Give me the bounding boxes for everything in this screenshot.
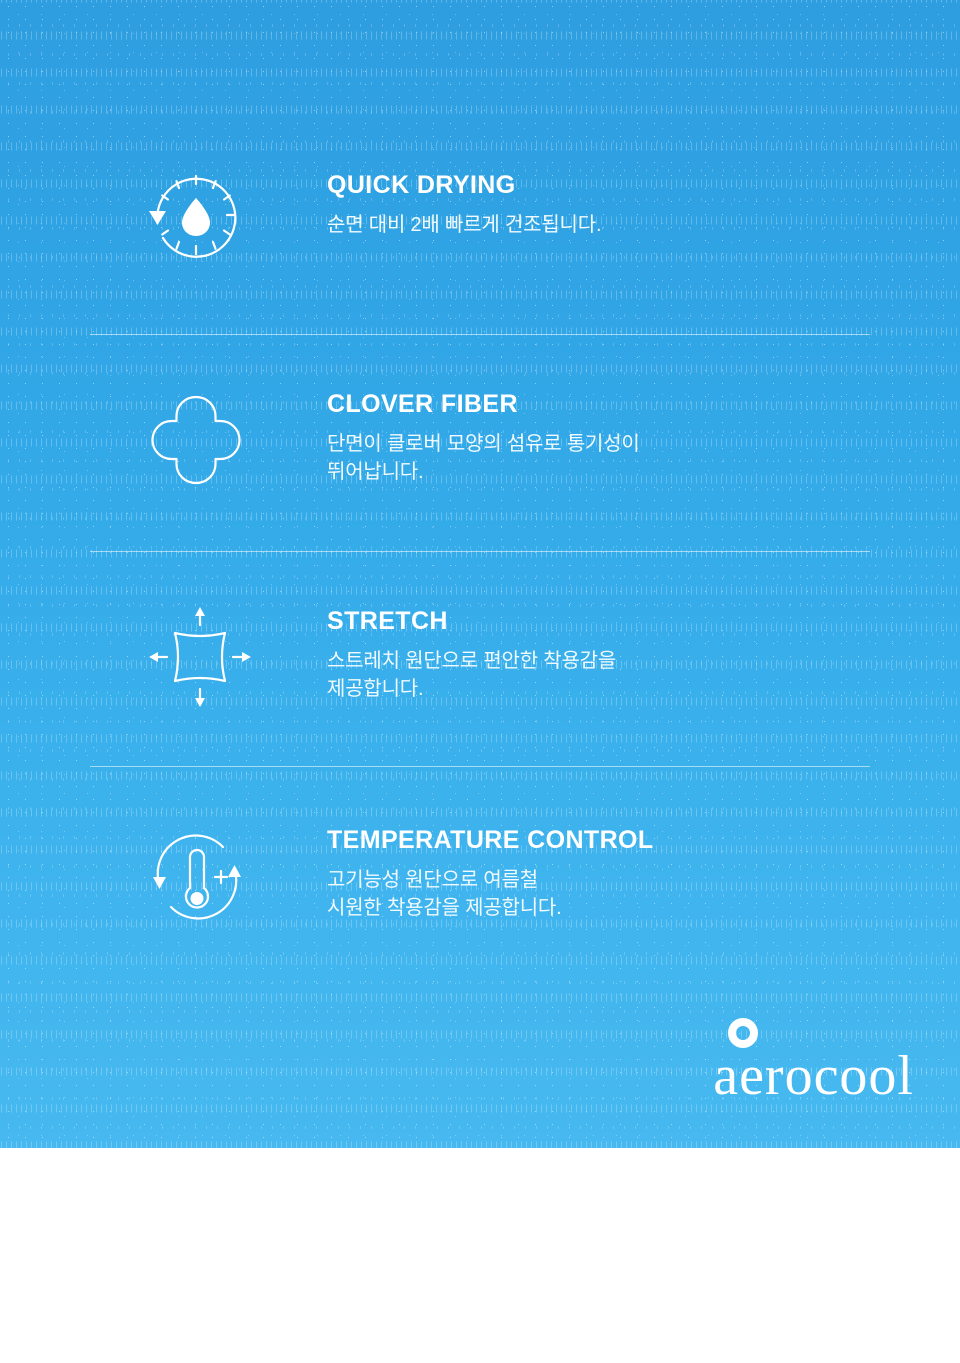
feature-panel: QUICK DRYING 순면 대비 2배 빠르게 건조됩니다. CLOVER … xyxy=(0,0,960,1148)
feature-item-quick-drying: QUICK DRYING 순면 대비 2배 빠르게 건조됩니다. xyxy=(0,0,960,272)
feature-text-clover-fiber: CLOVER FIBER 단면이 클로버 모양의 섬유로 통기성이 뛰어납니다. xyxy=(257,389,640,486)
clover-icon xyxy=(145,389,257,491)
feature-item-stretch: STRETCH 스트레치 원단으로 편안한 착용감을 제공합니다. xyxy=(0,552,960,708)
four-way-arrows-icon xyxy=(145,606,257,708)
feature-text-temperature-control: TEMPERATURE CONTROL 고기능성 원단으로 여름철 시원한 착용… xyxy=(257,825,654,922)
feature-description: 단면이 클로버 모양의 섬유로 통기성이 뛰어납니다. xyxy=(327,430,640,487)
feature-list: QUICK DRYING 순면 대비 2배 빠르게 건조됩니다. CLOVER … xyxy=(0,0,960,929)
feature-item-temperature-control: TEMPERATURE CONTROL 고기능성 원단으로 여름철 시원한 착용… xyxy=(0,767,960,929)
feature-item-clover-fiber: CLOVER FIBER 단면이 클로버 모양의 섬유로 통기성이 뛰어납니다. xyxy=(0,335,960,491)
divider xyxy=(90,334,870,335)
feature-title: STRETCH xyxy=(327,608,616,636)
feature-text-quick-drying: QUICK DRYING 순면 대비 2배 빠르게 건조됩니다. xyxy=(257,170,601,239)
feature-description: 고기능성 원단으로 여름철 시원한 착용감을 제공합니다. xyxy=(327,866,654,923)
feature-title: TEMPERATURE CONTROL xyxy=(327,827,654,855)
feature-title: CLOVER FIBER xyxy=(327,391,640,419)
white-footer-area xyxy=(0,1148,960,1363)
divider xyxy=(90,766,870,767)
clock-droplet-icon xyxy=(145,170,257,272)
brand-logo: aerocool xyxy=(713,1018,914,1103)
ring-icon xyxy=(728,1018,758,1048)
feature-text-stretch: STRETCH 스트레치 원단으로 편안한 착용감을 제공합니다. xyxy=(257,606,616,703)
feature-description: 순면 대비 2배 빠르게 건조됩니다. xyxy=(327,211,601,239)
brand-wordmark: aerocool xyxy=(713,1050,914,1103)
feature-title: QUICK DRYING xyxy=(327,172,601,200)
feature-description: 스트레치 원단으로 편안한 착용감을 제공합니다. xyxy=(327,647,616,704)
divider xyxy=(90,551,870,552)
thermometer-cycle-icon xyxy=(145,825,257,929)
